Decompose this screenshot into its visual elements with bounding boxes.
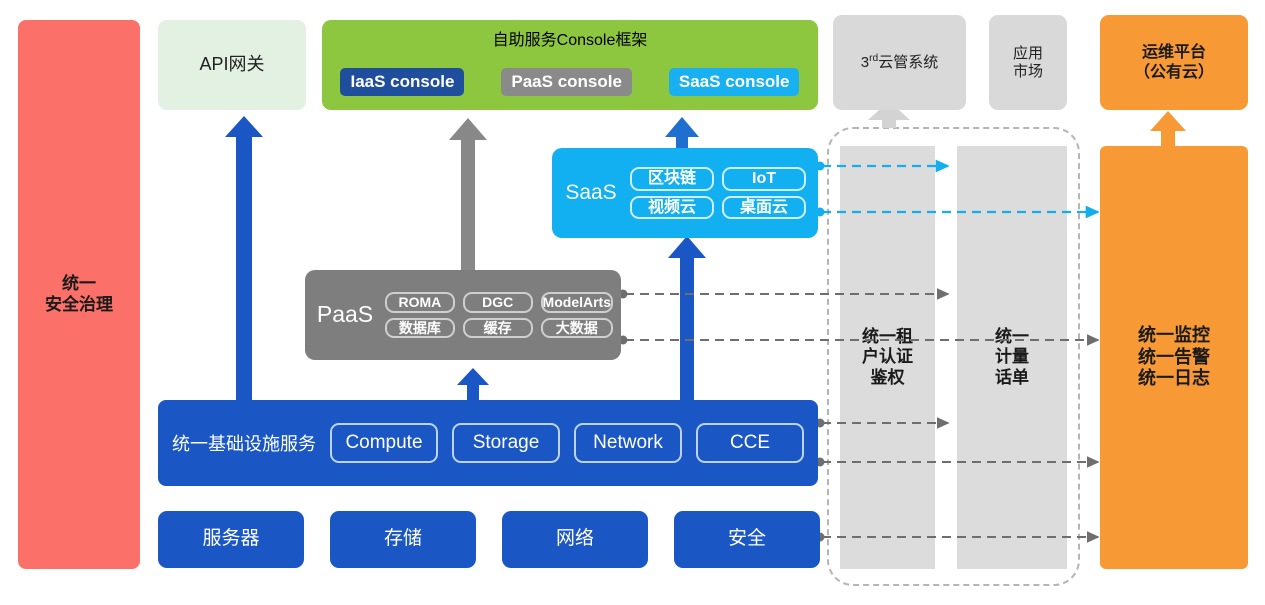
unified-metering-billing-column: 统一 计量 话单 — [957, 146, 1067, 569]
saas-service-blockchain[interactable]: 区块链 — [630, 167, 714, 190]
security-line-1: 统一 — [62, 274, 96, 294]
auth-line-3: 鉴权 — [871, 368, 905, 388]
third-party-cloud-label: 3rd云管系统 — [861, 53, 938, 72]
arrow-infra-to-saas — [668, 236, 706, 400]
unified-tenant-auth-column: 统一租 户认证 鉴权 — [840, 146, 935, 569]
infra-label: 统一基础设施服务 — [172, 430, 316, 456]
console-title-text: 自助服务Console框架 — [493, 31, 648, 50]
billing-line-2: 计量 — [995, 347, 1029, 367]
unified-infrastructure-service-block: 统一基础设施服务 Compute Storage Network CCE — [158, 400, 818, 486]
saas-label: SaaS — [552, 148, 630, 238]
api-gateway-box: API网关 — [158, 20, 306, 110]
third-party-rest: 云管系统 — [878, 54, 938, 71]
hardware-box-storage[interactable]: 存储 — [330, 511, 476, 568]
hardware-box-security[interactable]: 安全 — [674, 511, 820, 568]
hardware-box-server[interactable]: 服务器 — [158, 511, 304, 568]
paas-layer-block: PaaS ROMA DGC ModelArts 数据库 缓存 大数据 — [305, 270, 621, 360]
unified-ops-column: 统一监控 统一告警 统一日志 — [1100, 146, 1248, 569]
self-service-console-framework: 自助服务Console框架 IaaS console PaaS console … — [322, 20, 818, 110]
arrow-saas-to-console — [665, 117, 699, 148]
billing-line-1: 统一 — [995, 327, 1029, 347]
arrow-infra-to-apigateway — [225, 116, 263, 400]
saas-label-text: SaaS — [565, 180, 616, 205]
saas-service-iot[interactable]: IoT — [722, 167, 806, 190]
api-gateway-label: API网关 — [199, 54, 264, 76]
console-title: 自助服务Console框架 — [322, 20, 818, 62]
ops-column-line-3: 统一日志 — [1138, 368, 1210, 390]
architecture-diagram: 统一租 户认证 鉴权 统一 计量 话单 — [0, 0, 1265, 605]
paas-service-bigdata[interactable]: 大数据 — [541, 318, 613, 339]
ops-platform-line-1: 运维平台 — [1142, 43, 1206, 62]
app-market-line-2: 市场 — [1013, 63, 1043, 81]
paas-service-modelarts[interactable]: ModelArts — [541, 292, 613, 313]
third-party-superscript: rd — [869, 53, 878, 64]
paas-label: PaaS — [305, 270, 385, 360]
security-line-2: 安全治理 — [45, 295, 113, 315]
paas-service-roma[interactable]: ROMA — [385, 292, 455, 313]
third-party-prefix: 3 — [861, 54, 869, 71]
paas-service-cache[interactable]: 缓存 — [463, 318, 533, 339]
paas-service-dgc[interactable]: DGC — [463, 292, 533, 313]
paas-label-text: PaaS — [317, 301, 373, 329]
hardware-box-network[interactable]: 网络 — [502, 511, 648, 568]
app-market-box: 应用 市场 — [989, 15, 1067, 110]
ops-column-line-2: 统一告警 — [1138, 347, 1210, 369]
saas-service-video-cloud[interactable]: 视频云 — [630, 196, 714, 219]
paas-console-chip[interactable]: PaaS console — [501, 68, 632, 96]
paas-service-database[interactable]: 数据库 — [385, 318, 455, 339]
unified-security-governance-panel: 统一 安全治理 — [18, 20, 140, 569]
auth-line-2: 户认证 — [862, 347, 913, 367]
infra-service-compute[interactable]: Compute — [330, 423, 438, 463]
infra-label-text: 统一基础设施服务 — [172, 434, 316, 454]
infra-service-cce[interactable]: CCE — [696, 423, 804, 463]
ops-platform-line-2: （公有云） — [1134, 63, 1214, 82]
arrow-paas-to-console — [449, 118, 487, 270]
iaas-console-chip[interactable]: IaaS console — [340, 68, 464, 96]
saas-layer-block: SaaS 区块链 IoT 视频云 桌面云 — [552, 148, 818, 238]
infra-service-storage[interactable]: Storage — [452, 423, 560, 463]
third-party-cloud-management-box: 3rd云管系统 — [833, 15, 966, 110]
billing-line-3: 话单 — [995, 368, 1029, 388]
infra-service-network[interactable]: Network — [574, 423, 682, 463]
saas-console-chip[interactable]: SaaS console — [669, 68, 800, 96]
auth-line-1: 统一租 — [862, 327, 913, 347]
arrow-ops-column-to-ops-platform — [1150, 111, 1186, 146]
ops-column-line-1: 统一监控 — [1138, 325, 1210, 347]
app-market-line-1: 应用 — [1013, 45, 1043, 63]
saas-service-desktop-cloud[interactable]: 桌面云 — [722, 196, 806, 219]
ops-platform-box: 运维平台 （公有云） — [1100, 15, 1248, 110]
arrow-infra-to-paas — [457, 368, 489, 400]
